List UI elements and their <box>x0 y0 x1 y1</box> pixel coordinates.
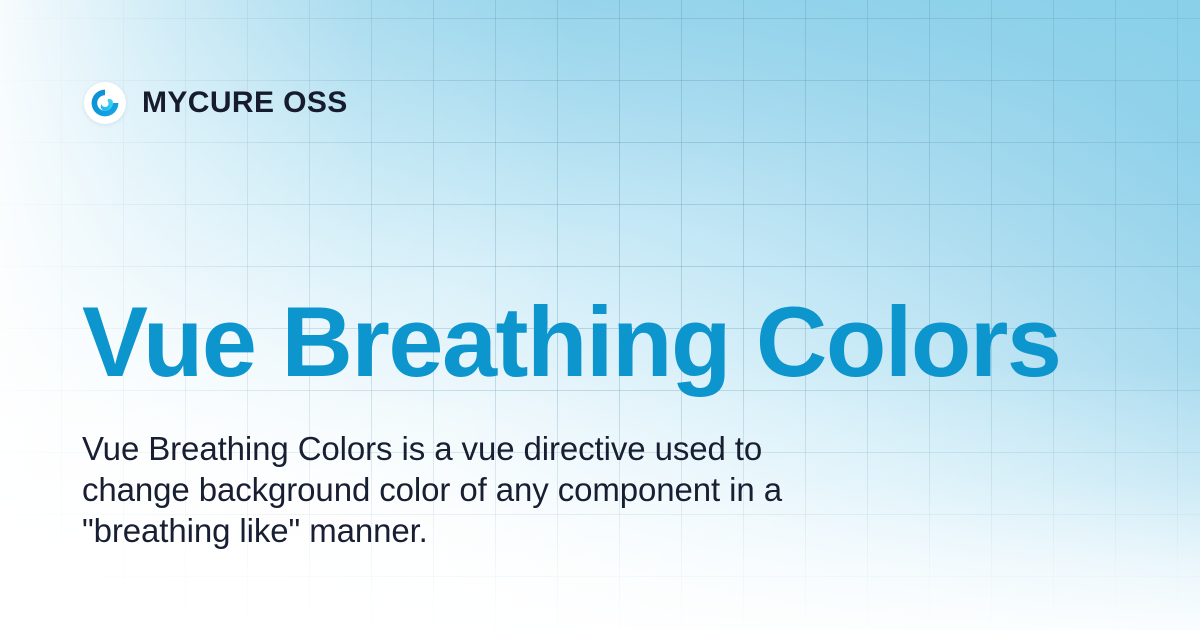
description-line: change background color of any component… <box>82 469 982 510</box>
page-description: Vue Breathing Colors is a vue directive … <box>82 428 982 551</box>
page-title: Vue Breathing Colors <box>82 292 1060 391</box>
description-line: Vue Breathing Colors is a vue directive … <box>82 428 982 469</box>
mycure-swirl-icon <box>84 82 126 124</box>
description-line: "breathing like" manner. <box>82 510 982 551</box>
brand-name: MYCURE OSS <box>142 86 348 120</box>
brand-row: MYCURE OSS <box>84 82 348 124</box>
social-card: MYCURE OSS Vue Breathing Colors Vue Brea… <box>0 0 1200 630</box>
